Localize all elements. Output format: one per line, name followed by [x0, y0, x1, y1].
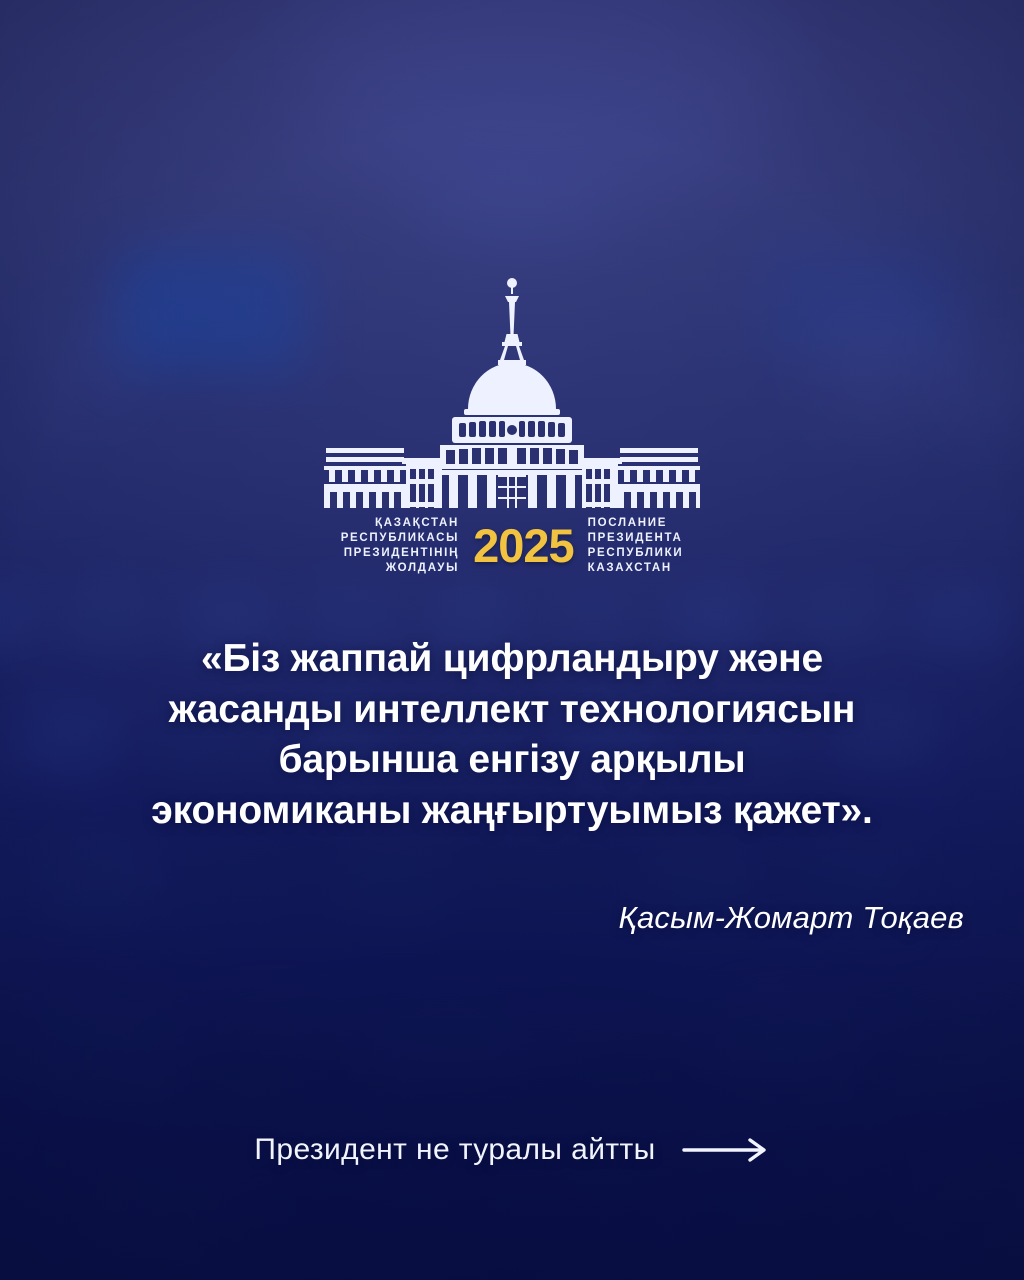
quote-line: «Біз жаппай цифрландыру және — [60, 634, 964, 685]
emblem-caption-kk-line: ПРЕЗИДЕНТІНІҢ — [341, 546, 459, 561]
emblem-caption-kk-line: РЕСПУБЛИКАСЫ — [341, 531, 459, 546]
quote-line: барынша енгізу арқылы — [60, 735, 964, 786]
emblem-caption-kk: ҚАЗАҚСТАН РЕСПУБЛИКАСЫ ПРЕЗИДЕНТІНІҢ ЖОЛ… — [341, 516, 459, 576]
cta-link[interactable]: Президент не туралы айтты — [0, 1133, 1024, 1167]
emblem-caption-kk-line: ҚАЗАҚСТАН — [341, 516, 459, 531]
akorda-presidential-palace-icon — [302, 276, 722, 508]
emblem-caption: ҚАЗАҚСТАН РЕСПУБЛИКАСЫ ПРЕЗИДЕНТІНІҢ ЖОЛ… — [341, 516, 684, 576]
emblem-year: 2025 — [473, 522, 574, 569]
emblem-caption-ru-line: РЕСПУБЛИКИ — [588, 546, 684, 561]
quote-line: экономиканы жаңғыртуымыз қажет». — [60, 786, 964, 837]
emblem-caption-ru-line: ПРЕЗИДЕНТА — [588, 531, 684, 546]
quote-text: «Біз жаппай цифрландыру және жасанды инт… — [60, 634, 964, 837]
arrow-right-icon — [682, 1137, 770, 1163]
cta-label: Президент не туралы айтты — [254, 1133, 655, 1167]
quote-author: Қасым-Жомарт Тоқаев — [619, 900, 964, 936]
emblem-caption-ru-line: КАЗАХСТАН — [588, 561, 684, 576]
quote-card: ҚАЗАҚСТАН РЕСПУБЛИКАСЫ ПРЕЗИДЕНТІНІҢ ЖОЛ… — [0, 0, 1024, 1280]
quote-line: жасанды интеллект технологиясын — [60, 685, 964, 736]
emblem-caption-kk-line: ЖОЛДАУЫ — [341, 561, 459, 576]
emblem: ҚАЗАҚСТАН РЕСПУБЛИКАСЫ ПРЕЗИДЕНТІНІҢ ЖОЛ… — [0, 276, 1024, 576]
emblem-caption-ru-line: ПОСЛАНИЕ — [588, 516, 684, 531]
emblem-caption-ru: ПОСЛАНИЕ ПРЕЗИДЕНТА РЕСПУБЛИКИ КАЗАХСТАН — [588, 516, 684, 576]
